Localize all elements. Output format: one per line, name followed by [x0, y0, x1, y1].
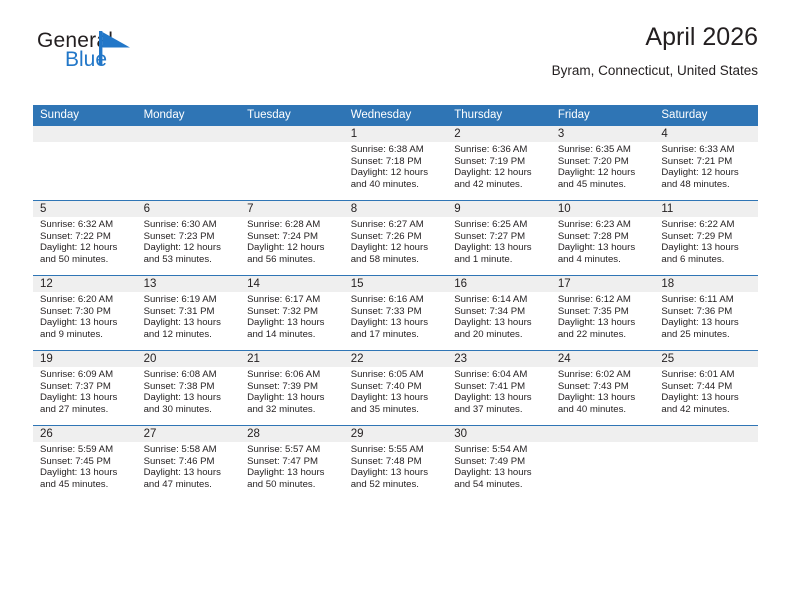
day-details: Sunrise: 6:01 AMSunset: 7:44 PMDaylight:… [654, 367, 758, 415]
calendar-week-row: 19Sunrise: 6:09 AMSunset: 7:37 PMDayligh… [33, 351, 758, 426]
sunset-time: Sunset: 7:33 PM [351, 306, 442, 318]
daylight-duration-line2: and 53 minutes. [144, 254, 235, 266]
sunset-time: Sunset: 7:30 PM [40, 306, 131, 318]
calendar-cell-inner: 21Sunrise: 6:06 AMSunset: 7:39 PMDayligh… [240, 351, 344, 425]
calendar-cell-inner [240, 126, 344, 200]
daylight-duration-line2: and 35 minutes. [351, 404, 442, 416]
sunset-time: Sunset: 7:37 PM [40, 381, 131, 393]
calendar-day-cell[interactable]: 15Sunrise: 6:16 AMSunset: 7:33 PMDayligh… [344, 276, 448, 351]
day-number: 10 [551, 201, 655, 217]
daylight-duration-line2: and 54 minutes. [454, 479, 545, 491]
day-number: 11 [654, 201, 758, 217]
calendar-cell-inner: 16Sunrise: 6:14 AMSunset: 7:34 PMDayligh… [447, 276, 551, 350]
daylight-duration-line2: and 50 minutes. [40, 254, 131, 266]
sunset-time: Sunset: 7:46 PM [144, 456, 235, 468]
daylight-duration-line1: Daylight: 13 hours [558, 317, 649, 329]
day-details: Sunrise: 6:14 AMSunset: 7:34 PMDaylight:… [447, 292, 551, 340]
day-details: Sunrise: 6:04 AMSunset: 7:41 PMDaylight:… [447, 367, 551, 415]
sunset-time: Sunset: 7:44 PM [661, 381, 752, 393]
calendar-week-row: 5Sunrise: 6:32 AMSunset: 7:22 PMDaylight… [33, 201, 758, 276]
day-details: Sunrise: 6:28 AMSunset: 7:24 PMDaylight:… [240, 217, 344, 265]
calendar-day-cell[interactable]: 20Sunrise: 6:08 AMSunset: 7:38 PMDayligh… [137, 351, 241, 426]
calendar-day-cell[interactable]: 8Sunrise: 6:27 AMSunset: 7:26 PMDaylight… [344, 201, 448, 276]
daylight-duration-line2: and 58 minutes. [351, 254, 442, 266]
calendar-cell-inner: 25Sunrise: 6:01 AMSunset: 7:44 PMDayligh… [654, 351, 758, 425]
calendar-day-cell[interactable]: 11Sunrise: 6:22 AMSunset: 7:29 PMDayligh… [654, 201, 758, 276]
day-number: 29 [344, 426, 448, 442]
daylight-duration-line2: and 6 minutes. [661, 254, 752, 266]
daylight-duration-line1: Daylight: 13 hours [454, 242, 545, 254]
calendar-cell-inner [654, 426, 758, 500]
day-details: Sunrise: 6:17 AMSunset: 7:32 PMDaylight:… [240, 292, 344, 340]
sunset-time: Sunset: 7:48 PM [351, 456, 442, 468]
calendar-header-row: Sunday Monday Tuesday Wednesday Thursday… [33, 105, 758, 126]
sunrise-time: Sunrise: 6:12 AM [558, 294, 649, 306]
daylight-duration-line2: and 40 minutes. [558, 404, 649, 416]
sunrise-time: Sunrise: 5:58 AM [144, 444, 235, 456]
daylight-duration-line1: Daylight: 13 hours [247, 317, 338, 329]
calendar-cell-inner: 5Sunrise: 6:32 AMSunset: 7:22 PMDaylight… [33, 201, 137, 275]
day-number: 3 [551, 126, 655, 142]
day-details: Sunrise: 5:55 AMSunset: 7:48 PMDaylight:… [344, 442, 448, 490]
day-number: 6 [137, 201, 241, 217]
calendar-day-cell[interactable]: 1Sunrise: 6:38 AMSunset: 7:18 PMDaylight… [344, 126, 448, 201]
day-details: Sunrise: 6:11 AMSunset: 7:36 PMDaylight:… [654, 292, 758, 340]
day-number [654, 426, 758, 442]
calendar-day-cell[interactable]: 26Sunrise: 5:59 AMSunset: 7:45 PMDayligh… [33, 426, 137, 501]
sunrise-time: Sunrise: 5:55 AM [351, 444, 442, 456]
calendar-day-cell[interactable]: 12Sunrise: 6:20 AMSunset: 7:30 PMDayligh… [33, 276, 137, 351]
daylight-duration-line2: and 9 minutes. [40, 329, 131, 341]
logo-text-blue: Blue [65, 49, 107, 71]
calendar-day-cell[interactable]: 16Sunrise: 6:14 AMSunset: 7:34 PMDayligh… [447, 276, 551, 351]
sunrise-time: Sunrise: 6:05 AM [351, 369, 442, 381]
daylight-duration-line1: Daylight: 12 hours [144, 242, 235, 254]
sunrise-time: Sunrise: 6:33 AM [661, 144, 752, 156]
sunset-time: Sunset: 7:36 PM [661, 306, 752, 318]
daylight-duration-line1: Daylight: 13 hours [144, 467, 235, 479]
daylight-duration-line2: and 45 minutes. [558, 179, 649, 191]
page-subtitle: Byram, Connecticut, United States [552, 62, 758, 80]
day-details: Sunrise: 6:25 AMSunset: 7:27 PMDaylight:… [447, 217, 551, 265]
day-number: 9 [447, 201, 551, 217]
calendar-day-cell[interactable]: 3Sunrise: 6:35 AMSunset: 7:20 PMDaylight… [551, 126, 655, 201]
calendar-day-cell[interactable]: 23Sunrise: 6:04 AMSunset: 7:41 PMDayligh… [447, 351, 551, 426]
daylight-duration-line2: and 4 minutes. [558, 254, 649, 266]
day-number: 5 [33, 201, 137, 217]
daylight-duration-line1: Daylight: 12 hours [40, 242, 131, 254]
daylight-duration-line1: Daylight: 13 hours [351, 392, 442, 404]
sunrise-time: Sunrise: 6:27 AM [351, 219, 442, 231]
day-number: 1 [344, 126, 448, 142]
sunset-time: Sunset: 7:31 PM [144, 306, 235, 318]
day-details: Sunrise: 6:20 AMSunset: 7:30 PMDaylight:… [33, 292, 137, 340]
day-details: Sunrise: 6:36 AMSunset: 7:19 PMDaylight:… [447, 142, 551, 190]
sunrise-time: Sunrise: 6:14 AM [454, 294, 545, 306]
page-title: April 2026 [552, 22, 758, 52]
calendar-day-cell[interactable]: 22Sunrise: 6:05 AMSunset: 7:40 PMDayligh… [344, 351, 448, 426]
sunrise-time: Sunrise: 6:19 AM [144, 294, 235, 306]
sunrise-time: Sunrise: 6:06 AM [247, 369, 338, 381]
daylight-duration-line2: and 30 minutes. [144, 404, 235, 416]
sunset-time: Sunset: 7:22 PM [40, 231, 131, 243]
day-number: 15 [344, 276, 448, 292]
calendar-cell-inner: 24Sunrise: 6:02 AMSunset: 7:43 PMDayligh… [551, 351, 655, 425]
calendar-day-cell[interactable]: 30Sunrise: 5:54 AMSunset: 7:49 PMDayligh… [447, 426, 551, 501]
general-blue-logo[interactable]: General Blue [37, 30, 217, 84]
day-details: Sunrise: 6:35 AMSunset: 7:20 PMDaylight:… [551, 142, 655, 190]
daylight-duration-line1: Daylight: 12 hours [247, 242, 338, 254]
calendar-day-cell[interactable]: 18Sunrise: 6:11 AMSunset: 7:36 PMDayligh… [654, 276, 758, 351]
daylight-duration-line2: and 22 minutes. [558, 329, 649, 341]
weekday-header-saturday: Saturday [654, 105, 758, 126]
calendar-cell-inner [551, 426, 655, 500]
title-block: April 2026 Byram, Connecticut, United St… [552, 22, 758, 80]
daylight-duration-line2: and 40 minutes. [351, 179, 442, 191]
sunrise-sunset-calendar: Sunday Monday Tuesday Wednesday Thursday… [33, 105, 758, 500]
calendar-cell-inner: 29Sunrise: 5:55 AMSunset: 7:48 PMDayligh… [344, 426, 448, 500]
daylight-duration-line1: Daylight: 13 hours [558, 392, 649, 404]
calendar-day-cell[interactable]: 17Sunrise: 6:12 AMSunset: 7:35 PMDayligh… [551, 276, 655, 351]
calendar-cell-inner: 13Sunrise: 6:19 AMSunset: 7:31 PMDayligh… [137, 276, 241, 350]
daylight-duration-line1: Daylight: 12 hours [558, 167, 649, 179]
calendar-week-row: 26Sunrise: 5:59 AMSunset: 7:45 PMDayligh… [33, 426, 758, 501]
sunrise-time: Sunrise: 6:01 AM [661, 369, 752, 381]
daylight-duration-line2: and 56 minutes. [247, 254, 338, 266]
daylight-duration-line2: and 45 minutes. [40, 479, 131, 491]
day-number [33, 126, 137, 142]
sunrise-time: Sunrise: 6:28 AM [247, 219, 338, 231]
sunset-time: Sunset: 7:18 PM [351, 156, 442, 168]
day-details: Sunrise: 6:06 AMSunset: 7:39 PMDaylight:… [240, 367, 344, 415]
day-details: Sunrise: 6:30 AMSunset: 7:23 PMDaylight:… [137, 217, 241, 265]
weekday-header-tuesday: Tuesday [240, 105, 344, 126]
daylight-duration-line1: Daylight: 13 hours [144, 392, 235, 404]
calendar-day-cell[interactable]: 29Sunrise: 5:55 AMSunset: 7:48 PMDayligh… [344, 426, 448, 501]
daylight-duration-line2: and 42 minutes. [661, 404, 752, 416]
calendar-cell-inner: 12Sunrise: 6:20 AMSunset: 7:30 PMDayligh… [33, 276, 137, 350]
calendar-cell-inner: 8Sunrise: 6:27 AMSunset: 7:26 PMDaylight… [344, 201, 448, 275]
calendar-cell-empty [137, 126, 241, 201]
calendar-cell-inner: 17Sunrise: 6:12 AMSunset: 7:35 PMDayligh… [551, 276, 655, 350]
sunrise-time: Sunrise: 6:02 AM [558, 369, 649, 381]
weekday-header-monday: Monday [137, 105, 241, 126]
calendar-cell-inner: 18Sunrise: 6:11 AMSunset: 7:36 PMDayligh… [654, 276, 758, 350]
calendar-cell-inner: 9Sunrise: 6:25 AMSunset: 7:27 PMDaylight… [447, 201, 551, 275]
daylight-duration-line2: and 32 minutes. [247, 404, 338, 416]
day-number: 24 [551, 351, 655, 367]
calendar-body: 1Sunrise: 6:38 AMSunset: 7:18 PMDaylight… [33, 126, 758, 500]
sunrise-time: Sunrise: 6:35 AM [558, 144, 649, 156]
day-number: 28 [240, 426, 344, 442]
daylight-duration-line1: Daylight: 13 hours [40, 392, 131, 404]
daylight-duration-line2: and 14 minutes. [247, 329, 338, 341]
day-number: 14 [240, 276, 344, 292]
daylight-duration-line1: Daylight: 13 hours [144, 317, 235, 329]
day-number: 26 [33, 426, 137, 442]
day-number: 12 [33, 276, 137, 292]
day-details: Sunrise: 5:58 AMSunset: 7:46 PMDaylight:… [137, 442, 241, 490]
calendar-cell-inner: 7Sunrise: 6:28 AMSunset: 7:24 PMDaylight… [240, 201, 344, 275]
sunset-time: Sunset: 7:32 PM [247, 306, 338, 318]
calendar-cell-empty [551, 426, 655, 501]
day-details: Sunrise: 5:54 AMSunset: 7:49 PMDaylight:… [447, 442, 551, 490]
calendar-cell-inner [33, 126, 137, 200]
daylight-duration-line1: Daylight: 13 hours [454, 317, 545, 329]
daylight-duration-line1: Daylight: 13 hours [351, 467, 442, 479]
daylight-duration-line2: and 1 minute. [454, 254, 545, 266]
daylight-duration-line2: and 50 minutes. [247, 479, 338, 491]
sunrise-time: Sunrise: 6:17 AM [247, 294, 338, 306]
weekday-header-friday: Friday [551, 105, 655, 126]
sunrise-time: Sunrise: 6:04 AM [454, 369, 545, 381]
daylight-duration-line1: Daylight: 13 hours [661, 317, 752, 329]
day-number: 7 [240, 201, 344, 217]
calendar-day-cell[interactable]: 6Sunrise: 6:30 AMSunset: 7:23 PMDaylight… [137, 201, 241, 276]
calendar-cell-empty [240, 126, 344, 201]
day-details: Sunrise: 6:12 AMSunset: 7:35 PMDaylight:… [551, 292, 655, 340]
daylight-duration-line2: and 47 minutes. [144, 479, 235, 491]
weekday-header-sunday: Sunday [33, 105, 137, 126]
day-details: Sunrise: 5:59 AMSunset: 7:45 PMDaylight:… [33, 442, 137, 490]
calendar-day-cell[interactable]: 9Sunrise: 6:25 AMSunset: 7:27 PMDaylight… [447, 201, 551, 276]
day-details: Sunrise: 6:02 AMSunset: 7:43 PMDaylight:… [551, 367, 655, 415]
day-number: 21 [240, 351, 344, 367]
sunrise-time: Sunrise: 6:09 AM [40, 369, 131, 381]
sunset-time: Sunset: 7:34 PM [454, 306, 545, 318]
daylight-duration-line1: Daylight: 13 hours [351, 317, 442, 329]
day-details: Sunrise: 6:09 AMSunset: 7:37 PMDaylight:… [33, 367, 137, 415]
calendar-cell-inner: 6Sunrise: 6:30 AMSunset: 7:23 PMDaylight… [137, 201, 241, 275]
sunset-time: Sunset: 7:41 PM [454, 381, 545, 393]
daylight-duration-line2: and 52 minutes. [351, 479, 442, 491]
calendar-day-cell[interactable]: 13Sunrise: 6:19 AMSunset: 7:31 PMDayligh… [137, 276, 241, 351]
sunset-time: Sunset: 7:45 PM [40, 456, 131, 468]
daylight-duration-line1: Daylight: 12 hours [454, 167, 545, 179]
day-number [240, 126, 344, 142]
sunrise-time: Sunrise: 5:54 AM [454, 444, 545, 456]
day-number [551, 426, 655, 442]
day-number: 22 [344, 351, 448, 367]
calendar-cell-inner [137, 126, 241, 200]
calendar-day-cell[interactable]: 19Sunrise: 6:09 AMSunset: 7:37 PMDayligh… [33, 351, 137, 426]
sunset-time: Sunset: 7:29 PM [661, 231, 752, 243]
sunrise-time: Sunrise: 6:30 AM [144, 219, 235, 231]
calendar-cell-inner: 19Sunrise: 6:09 AMSunset: 7:37 PMDayligh… [33, 351, 137, 425]
day-number: 8 [344, 201, 448, 217]
daylight-duration-line1: Daylight: 12 hours [661, 167, 752, 179]
day-details: Sunrise: 6:23 AMSunset: 7:28 PMDaylight:… [551, 217, 655, 265]
sunset-time: Sunset: 7:38 PM [144, 381, 235, 393]
sunset-time: Sunset: 7:49 PM [454, 456, 545, 468]
daylight-duration-line2: and 37 minutes. [454, 404, 545, 416]
calendar-cell-inner: 14Sunrise: 6:17 AMSunset: 7:32 PMDayligh… [240, 276, 344, 350]
daylight-duration-line1: Daylight: 13 hours [454, 392, 545, 404]
calendar-week-row: 1Sunrise: 6:38 AMSunset: 7:18 PMDaylight… [33, 126, 758, 201]
calendar-day-cell[interactable]: 10Sunrise: 6:23 AMSunset: 7:28 PMDayligh… [551, 201, 655, 276]
day-details: Sunrise: 6:08 AMSunset: 7:38 PMDaylight:… [137, 367, 241, 415]
calendar-page: General Blue April 2026 Byram, Connectic… [0, 0, 792, 612]
sunrise-time: Sunrise: 6:22 AM [661, 219, 752, 231]
day-details: Sunrise: 6:19 AMSunset: 7:31 PMDaylight:… [137, 292, 241, 340]
calendar-day-cell[interactable]: 4Sunrise: 6:33 AMSunset: 7:21 PMDaylight… [654, 126, 758, 201]
day-number: 25 [654, 351, 758, 367]
sunset-time: Sunset: 7:27 PM [454, 231, 545, 243]
calendar-day-cell[interactable]: 21Sunrise: 6:06 AMSunset: 7:39 PMDayligh… [240, 351, 344, 426]
daylight-duration-line1: Daylight: 13 hours [247, 467, 338, 479]
daylight-duration-line1: Daylight: 13 hours [40, 317, 131, 329]
calendar-cell-inner: 30Sunrise: 5:54 AMSunset: 7:49 PMDayligh… [447, 426, 551, 500]
calendar-day-cell[interactable]: 28Sunrise: 5:57 AMSunset: 7:47 PMDayligh… [240, 426, 344, 501]
sunset-time: Sunset: 7:28 PM [558, 231, 649, 243]
day-number: 13 [137, 276, 241, 292]
daylight-duration-line1: Daylight: 13 hours [247, 392, 338, 404]
calendar-cell-inner: 1Sunrise: 6:38 AMSunset: 7:18 PMDaylight… [344, 126, 448, 200]
day-number: 30 [447, 426, 551, 442]
calendar-cell-inner: 10Sunrise: 6:23 AMSunset: 7:28 PMDayligh… [551, 201, 655, 275]
day-details: Sunrise: 5:57 AMSunset: 7:47 PMDaylight:… [240, 442, 344, 490]
calendar-cell-inner: 23Sunrise: 6:04 AMSunset: 7:41 PMDayligh… [447, 351, 551, 425]
daylight-duration-line1: Daylight: 13 hours [661, 242, 752, 254]
sunrise-time: Sunrise: 5:59 AM [40, 444, 131, 456]
day-number: 18 [654, 276, 758, 292]
day-number: 4 [654, 126, 758, 142]
sunset-time: Sunset: 7:43 PM [558, 381, 649, 393]
daylight-duration-line1: Daylight: 13 hours [454, 467, 545, 479]
sunrise-time: Sunrise: 6:08 AM [144, 369, 235, 381]
sunrise-time: Sunrise: 5:57 AM [247, 444, 338, 456]
sunrise-time: Sunrise: 6:32 AM [40, 219, 131, 231]
daylight-duration-line1: Daylight: 12 hours [351, 242, 442, 254]
day-details: Sunrise: 6:05 AMSunset: 7:40 PMDaylight:… [344, 367, 448, 415]
day-number [137, 126, 241, 142]
sunset-time: Sunset: 7:20 PM [558, 156, 649, 168]
calendar-cell-empty [33, 126, 137, 201]
calendar-cell-inner: 3Sunrise: 6:35 AMSunset: 7:20 PMDaylight… [551, 126, 655, 200]
day-number: 2 [447, 126, 551, 142]
calendar-day-cell[interactable]: 25Sunrise: 6:01 AMSunset: 7:44 PMDayligh… [654, 351, 758, 426]
daylight-duration-line2: and 27 minutes. [40, 404, 131, 416]
daylight-duration-line2: and 48 minutes. [661, 179, 752, 191]
sunset-time: Sunset: 7:39 PM [247, 381, 338, 393]
calendar-cell-inner: 11Sunrise: 6:22 AMSunset: 7:29 PMDayligh… [654, 201, 758, 275]
calendar-cell-inner: 26Sunrise: 5:59 AMSunset: 7:45 PMDayligh… [33, 426, 137, 500]
sunset-time: Sunset: 7:26 PM [351, 231, 442, 243]
sunset-time: Sunset: 7:40 PM [351, 381, 442, 393]
sunset-time: Sunset: 7:19 PM [454, 156, 545, 168]
page-header: General Blue April 2026 Byram, Connectic… [33, 22, 758, 96]
calendar-cell-inner: 20Sunrise: 6:08 AMSunset: 7:38 PMDayligh… [137, 351, 241, 425]
day-number: 17 [551, 276, 655, 292]
sunset-time: Sunset: 7:23 PM [144, 231, 235, 243]
calendar-day-cell[interactable]: 24Sunrise: 6:02 AMSunset: 7:43 PMDayligh… [551, 351, 655, 426]
calendar-cell-inner: 27Sunrise: 5:58 AMSunset: 7:46 PMDayligh… [137, 426, 241, 500]
calendar-cell-inner: 15Sunrise: 6:16 AMSunset: 7:33 PMDayligh… [344, 276, 448, 350]
day-number: 16 [447, 276, 551, 292]
weekday-header-thursday: Thursday [447, 105, 551, 126]
daylight-duration-line1: Daylight: 12 hours [351, 167, 442, 179]
sunset-time: Sunset: 7:24 PM [247, 231, 338, 243]
sunrise-time: Sunrise: 6:11 AM [661, 294, 752, 306]
calendar-day-cell[interactable]: 2Sunrise: 6:36 AMSunset: 7:19 PMDaylight… [447, 126, 551, 201]
day-number: 27 [137, 426, 241, 442]
sunset-time: Sunset: 7:47 PM [247, 456, 338, 468]
day-number: 19 [33, 351, 137, 367]
daylight-duration-line2: and 12 minutes. [144, 329, 235, 341]
sunrise-time: Sunrise: 6:25 AM [454, 219, 545, 231]
calendar-cell-inner: 22Sunrise: 6:05 AMSunset: 7:40 PMDayligh… [344, 351, 448, 425]
weekday-header-wednesday: Wednesday [344, 105, 448, 126]
calendar-week-row: 12Sunrise: 6:20 AMSunset: 7:30 PMDayligh… [33, 276, 758, 351]
daylight-duration-line1: Daylight: 13 hours [661, 392, 752, 404]
calendar-cell-inner: 28Sunrise: 5:57 AMSunset: 7:47 PMDayligh… [240, 426, 344, 500]
day-details: Sunrise: 6:32 AMSunset: 7:22 PMDaylight:… [33, 217, 137, 265]
calendar-cell-inner: 4Sunrise: 6:33 AMSunset: 7:21 PMDaylight… [654, 126, 758, 200]
day-details: Sunrise: 6:27 AMSunset: 7:26 PMDaylight:… [344, 217, 448, 265]
day-number: 20 [137, 351, 241, 367]
day-number: 23 [447, 351, 551, 367]
calendar-day-cell[interactable]: 27Sunrise: 5:58 AMSunset: 7:46 PMDayligh… [137, 426, 241, 501]
calendar-cell-empty [654, 426, 758, 501]
sunrise-time: Sunrise: 6:20 AM [40, 294, 131, 306]
calendar-cell-inner: 2Sunrise: 6:36 AMSunset: 7:19 PMDaylight… [447, 126, 551, 200]
calendar-day-cell[interactable]: 5Sunrise: 6:32 AMSunset: 7:22 PMDaylight… [33, 201, 137, 276]
daylight-duration-line2: and 17 minutes. [351, 329, 442, 341]
sunrise-time: Sunrise: 6:38 AM [351, 144, 442, 156]
daylight-duration-line2: and 42 minutes. [454, 179, 545, 191]
daylight-duration-line1: Daylight: 13 hours [558, 242, 649, 254]
sunrise-time: Sunrise: 6:23 AM [558, 219, 649, 231]
sunrise-time: Sunrise: 6:16 AM [351, 294, 442, 306]
day-details: Sunrise: 6:33 AMSunset: 7:21 PMDaylight:… [654, 142, 758, 190]
daylight-duration-line1: Daylight: 13 hours [40, 467, 131, 479]
day-details: Sunrise: 6:38 AMSunset: 7:18 PMDaylight:… [344, 142, 448, 190]
daylight-duration-line2: and 25 minutes. [661, 329, 752, 341]
day-details: Sunrise: 6:22 AMSunset: 7:29 PMDaylight:… [654, 217, 758, 265]
sunset-time: Sunset: 7:21 PM [661, 156, 752, 168]
calendar-day-cell[interactable]: 7Sunrise: 6:28 AMSunset: 7:24 PMDaylight… [240, 201, 344, 276]
sunset-time: Sunset: 7:35 PM [558, 306, 649, 318]
day-details: Sunrise: 6:16 AMSunset: 7:33 PMDaylight:… [344, 292, 448, 340]
sunrise-time: Sunrise: 6:36 AM [454, 144, 545, 156]
daylight-duration-line2: and 20 minutes. [454, 329, 545, 341]
calendar-day-cell[interactable]: 14Sunrise: 6:17 AMSunset: 7:32 PMDayligh… [240, 276, 344, 351]
